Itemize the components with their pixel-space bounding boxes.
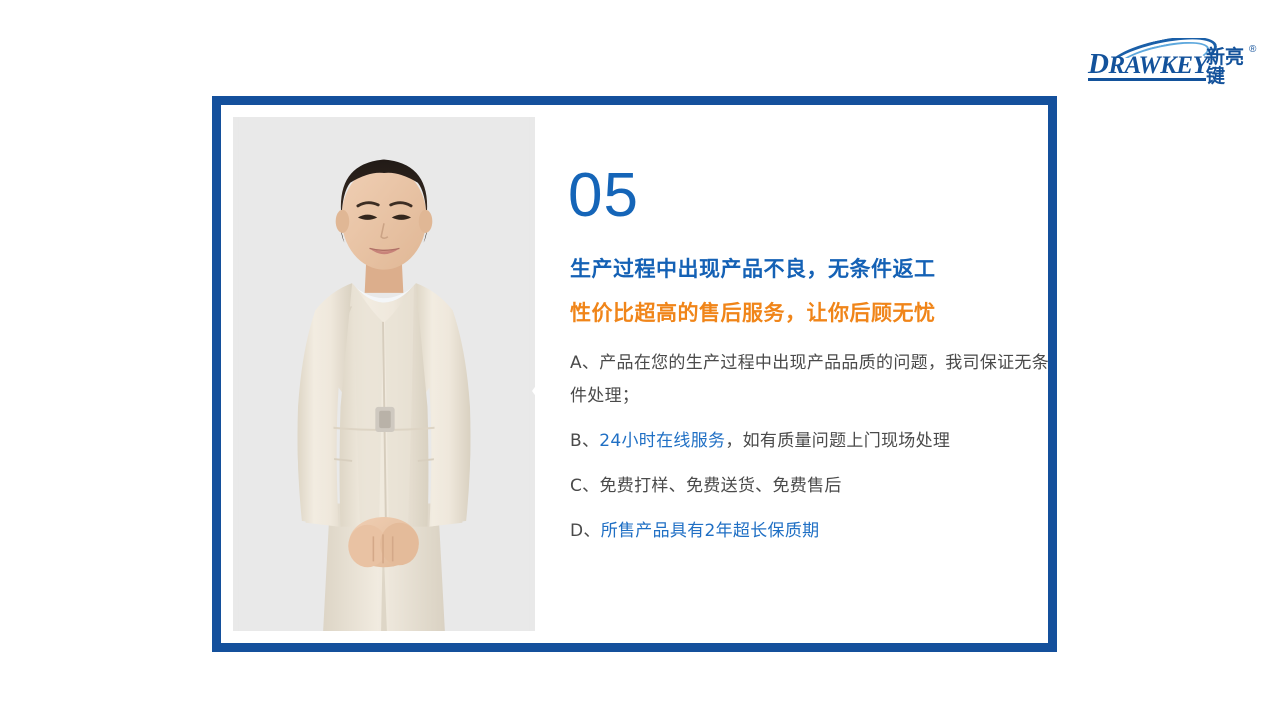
logo-wordmark: DRAWKEY — [1088, 50, 1207, 79]
text-content: 05 生产过程中出现产品不良，无条件返工 性价比超高的售后服务，让你后顾无忧 A… — [568, 105, 1036, 643]
list-item: B、24小时在线服务，如有质量问题上门现场处理 — [570, 425, 1052, 458]
photo-panel — [233, 117, 535, 631]
list-item-text: 免费打样、免费送货、免费售后 — [599, 476, 841, 496]
list-item-highlight: 所售产品具有2年超长保质期 — [601, 521, 820, 541]
list-item-marker: B、 — [570, 431, 599, 451]
list-item: D、所售产品具有2年超长保质期 — [570, 515, 1052, 548]
brand-logo: DRAWKEY 新亮键 ® — [1088, 38, 1260, 82]
logo-word-initial: D — [1088, 48, 1108, 80]
list-item-text: 产品在您的生产过程中出现产品品质的问题，我司保证无条件处理； — [570, 353, 1049, 406]
slide-frame: 05 生产过程中出现产品不良，无条件返工 性价比超高的售后服务，让你后顾无忧 A… — [212, 96, 1057, 652]
list-item: C、免费打样、免费送货、免费售后 — [570, 470, 1052, 503]
service-list: A、产品在您的生产过程中出现产品品质的问题，我司保证无条件处理； B、24小时在… — [570, 347, 1052, 560]
list-item-highlight: 24小时在线服务 — [599, 431, 725, 451]
list-item-text: ，如有质量问题上门现场处理 — [725, 431, 950, 451]
headline-secondary: 性价比超高的售后服务，让你后顾无忧 — [570, 297, 936, 327]
list-item-marker: D、 — [570, 521, 601, 541]
logo-word-rest: RAWKEY — [1108, 52, 1207, 79]
headline-primary: 生产过程中出现产品不良，无条件返工 — [570, 253, 936, 283]
registered-trademark-icon: ® — [1249, 44, 1256, 55]
list-item: A、产品在您的生产过程中出现产品品质的问题，我司保证无条件处理； — [570, 347, 1052, 413]
businesswoman-photo — [233, 117, 535, 631]
list-item-marker: C、 — [570, 476, 599, 496]
section-number: 05 — [568, 165, 639, 227]
slide-inner: 05 生产过程中出现产品不良，无条件返工 性价比超高的售后服务，让你后顾无忧 A… — [221, 105, 1048, 643]
logo-underline — [1088, 78, 1206, 81]
panel-notch — [532, 355, 535, 427]
list-item-marker: A、 — [570, 353, 599, 373]
